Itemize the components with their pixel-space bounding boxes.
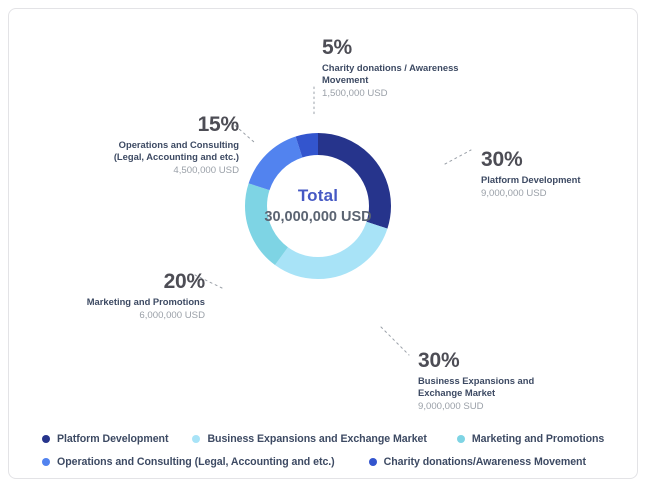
- legend-item-charity-donations[interactable]: Charity donations/Awareness Movement: [369, 456, 586, 468]
- callout-marketing-percent: 20%: [55, 271, 205, 293]
- callout-business-percent: 30%: [418, 350, 598, 372]
- callout-platform: 30% Platform Development 9,000,000 USD: [481, 149, 631, 201]
- callout-charity-category: Charity donations / Awareness Movement: [322, 62, 512, 86]
- legend-item-operations-consulting[interactable]: Operations and Consulting (Legal, Accoun…: [42, 456, 335, 468]
- chart-frame: Total 30,000,000 USD 5% Charity donation…: [8, 8, 638, 479]
- legend-dot-icon-charity-donations: [369, 458, 377, 466]
- chart-canvas: Total 30,000,000 USD 5% Charity donation…: [0, 0, 648, 489]
- legend-label-charity-donations: Charity donations/Awareness Movement: [384, 456, 586, 468]
- callout-business-amount: 9,000,000 SUD: [418, 401, 598, 413]
- callout-operations-category-line1: Operations and Consulting: [119, 139, 239, 150]
- callout-marketing-category: Marketing and Promotions: [55, 296, 205, 308]
- legend-label-business-expansions: Business Expansions and Exchange Market: [207, 433, 426, 445]
- legend-label-marketing-promotions: Marketing and Promotions: [472, 433, 604, 445]
- callout-operations-category-line2: (Legal, Accounting and etc.): [114, 151, 239, 162]
- callout-charity-category-line1: Charity donations / Awareness: [322, 62, 459, 73]
- callout-operations-amount: 4,500,000 USD: [67, 165, 239, 177]
- callout-operations-percent: 15%: [67, 114, 239, 136]
- callout-marketing: 20% Marketing and Promotions 6,000,000 U…: [55, 271, 205, 323]
- callout-operations-category: Operations and Consulting (Legal, Accoun…: [67, 139, 239, 163]
- callout-business-category-line2: Exchange Market: [418, 387, 495, 398]
- legend-item-platform-development[interactable]: Platform Development: [42, 433, 168, 445]
- legend-row-2: Operations and Consulting (Legal, Accoun…: [42, 450, 622, 473]
- callout-charity: 5% Charity donations / Awareness Movemen…: [322, 37, 512, 101]
- callout-charity-amount: 1,500,000 USD: [322, 88, 512, 100]
- callout-charity-category-line2: Movement: [322, 74, 368, 85]
- legend-dot-icon-business-expansions: [192, 435, 200, 443]
- callout-platform-amount: 9,000,000 USD: [481, 188, 631, 200]
- leader-line-business: [381, 327, 409, 355]
- callout-charity-percent: 5%: [322, 37, 512, 59]
- legend-dot-icon-platform-development: [42, 435, 50, 443]
- callout-business: 30% Business Expansions and Exchange Mar…: [418, 350, 598, 414]
- donut-svg: [233, 121, 403, 291]
- chart-legend: Platform Development Business Expansions…: [42, 427, 622, 473]
- legend-item-marketing-promotions[interactable]: Marketing and Promotions: [457, 433, 604, 445]
- leader-line-platform: [445, 150, 471, 164]
- callout-platform-percent: 30%: [481, 149, 631, 171]
- callout-business-category: Business Expansions and Exchange Market: [418, 375, 598, 399]
- donut-chart: Total 30,000,000 USD: [233, 121, 403, 291]
- legend-item-business-expansions[interactable]: Business Expansions and Exchange Market: [192, 433, 426, 445]
- legend-label-operations-consulting: Operations and Consulting (Legal, Accoun…: [57, 456, 335, 468]
- callout-marketing-amount: 6,000,000 USD: [55, 310, 205, 322]
- callout-operations: 15% Operations and Consulting (Legal, Ac…: [67, 114, 239, 178]
- legend-label-platform-development: Platform Development: [57, 433, 168, 445]
- callout-platform-category: Platform Development: [481, 174, 631, 186]
- callout-business-category-line1: Business Expansions and: [418, 375, 534, 386]
- legend-row-1: Platform Development Business Expansions…: [42, 427, 622, 450]
- legend-dot-icon-marketing-promotions: [457, 435, 465, 443]
- legend-dot-icon-operations-consulting: [42, 458, 50, 466]
